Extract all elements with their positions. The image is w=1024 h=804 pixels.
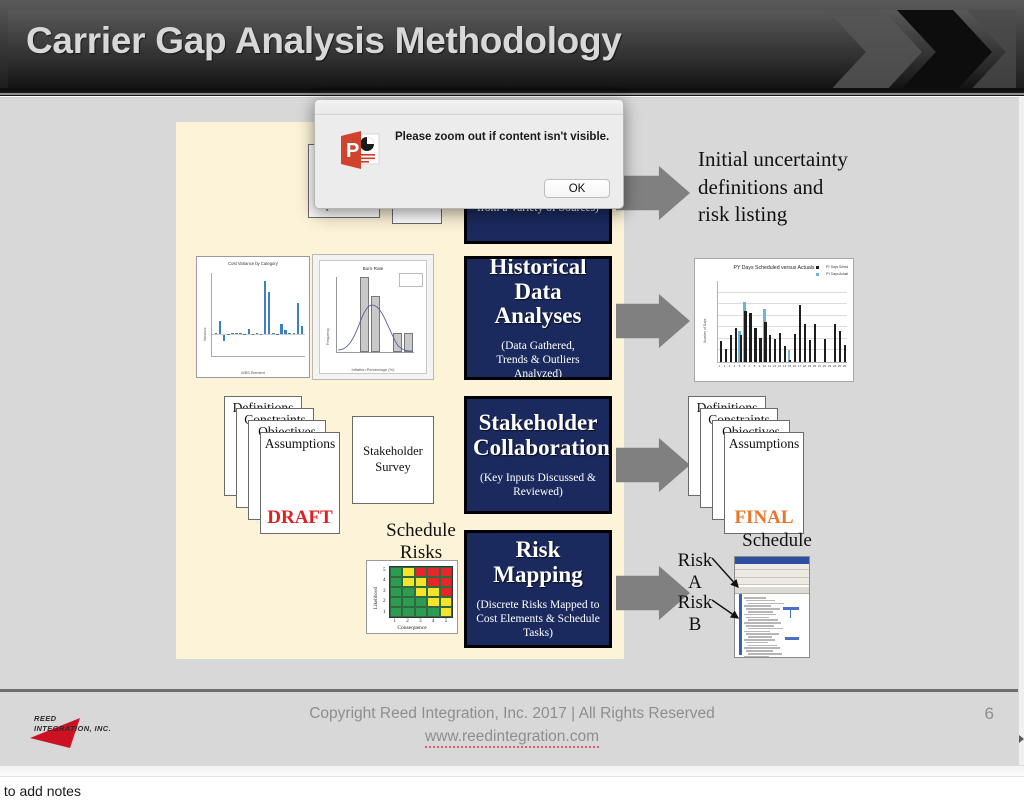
- document-stack-final: Definitions Constraints Objectives Assum…: [688, 396, 798, 524]
- scroll-right-arrow-icon[interactable]: [1019, 735, 1024, 743]
- sched-row: [744, 647, 780, 649]
- slide-footer: REED INTEGRATION, INC. Copyright Reed In…: [0, 689, 1024, 765]
- stage-2-title-line2: Data Analyses: [473, 280, 603, 330]
- output-arrow-2: [616, 294, 690, 348]
- sched-row: [748, 603, 784, 605]
- stage-2-title-line1: Historical: [473, 256, 603, 280]
- thumb1-bar: [235, 333, 237, 334]
- risk-matrix-xtick: 2: [406, 619, 409, 624]
- stage-3-sub-line2: Reviewed): [473, 485, 603, 499]
- risk-matrix-ytick: 2: [383, 599, 386, 604]
- stage-4-sub-line1: (Discrete Risks Mapped to: [473, 598, 603, 612]
- sched-column-header: [735, 587, 809, 594]
- py-bar-sched: [799, 305, 801, 362]
- thumb1-bar: [293, 333, 295, 334]
- sched-row: [746, 642, 768, 644]
- risk-matrix-xtick: 3: [419, 619, 422, 624]
- stage-4-title-line1: Risk Mapping: [473, 538, 603, 588]
- risk-matrix-cell: [415, 587, 427, 597]
- risk-matrix-cell: [415, 597, 427, 607]
- sched-row: [748, 645, 777, 647]
- sched-row: [746, 600, 775, 602]
- risk-matrix-cell: [415, 577, 427, 587]
- py-bar-sched: [749, 313, 751, 362]
- output-1-line3: risk listing: [698, 201, 888, 229]
- py-bar-sched: [764, 322, 766, 363]
- doc-label-final-assumptions: Assumptions: [725, 436, 803, 452]
- py-bar-sched: [789, 360, 791, 362]
- py-bar-sched: [779, 333, 781, 362]
- risk-matrix-cell: [402, 597, 414, 607]
- thumb1-title: Cost Variance by Category: [197, 261, 309, 266]
- thumb1-bar: [297, 303, 299, 334]
- thumb1-bar: [264, 281, 266, 334]
- risk-b-line2: B: [672, 614, 718, 636]
- sched-titlebar: [735, 557, 809, 564]
- thumb1-bar: [268, 292, 270, 334]
- sched-row: [746, 617, 769, 619]
- thumb1-bar: [219, 321, 221, 334]
- risk-matrix-xtick: 4: [432, 619, 435, 624]
- risk-matrix-heatmap: Likelihood Consequence 12345 54321: [366, 560, 458, 634]
- dialog-message: Please zoom out if content isn't visible…: [395, 130, 611, 145]
- py-bar-sched: [725, 349, 727, 362]
- risk-matrix-cell: [402, 607, 414, 617]
- risk-matrix-cell: [402, 567, 414, 577]
- stage-4-sub-line2: Cost Elements & Schedule: [473, 612, 603, 626]
- schedule-output-label: Schedule: [722, 530, 832, 552]
- doc-label-assumptions: Assumptions: [261, 436, 339, 452]
- risk-matrix-cell: [390, 577, 402, 587]
- sched-row: [748, 653, 782, 655]
- sched-row: [744, 605, 771, 607]
- slide-number: 6: [985, 704, 994, 724]
- py-bar-sched: [774, 339, 776, 362]
- chevron-decor-1: [814, 10, 922, 88]
- risk-matrix-ytick: 5: [383, 568, 386, 573]
- sched-row: [748, 611, 773, 613]
- risk-matrix-xtick: 5: [445, 619, 448, 624]
- risk-matrix-cell: [440, 577, 452, 587]
- py-bar-sched: [720, 341, 722, 362]
- footer-url-link[interactable]: www.reedintegration.com: [0, 728, 1024, 746]
- sched-row: [744, 656, 769, 658]
- risk-matrix-cell: [440, 597, 452, 607]
- dialog-ok-button[interactable]: OK: [544, 179, 610, 198]
- py-bar-sched: [834, 324, 836, 362]
- thumb2-xlabel: Inflation Percentage (%): [320, 367, 426, 372]
- sched-row: [744, 622, 781, 624]
- py-bar-sched: [769, 335, 771, 362]
- powerpoint-icon: P: [337, 127, 383, 173]
- py-bar-sched: [754, 328, 756, 362]
- stage-2-sub-line1: (Data Gathered,: [473, 339, 603, 353]
- zoom-notice-dialog: P Please zoom out if content isn't visib…: [314, 99, 624, 209]
- thumb1-bar: [248, 329, 250, 334]
- risk-matrix-cell: [427, 577, 439, 587]
- banner-inner: Carrier Gap Analysis Methodology: [8, 10, 1016, 88]
- stage-3-title-line1: Stakeholder: [473, 411, 603, 436]
- dialog-titlebar[interactable]: [315, 100, 623, 115]
- risk-matrix-ytick: 3: [383, 589, 386, 594]
- thumb1-bar: [280, 324, 282, 334]
- output-chart-py-days: PY Days Scheduled versus Actuals PY Days…: [694, 258, 854, 382]
- footer-url-text: www.reedintegration.com: [425, 728, 599, 748]
- risk-matrix-cell: [390, 607, 402, 617]
- banner-underline: [0, 88, 1024, 91]
- doc-page-final-assumptions: Assumptions FINAL: [724, 432, 804, 534]
- document-stack-draft: Definitions Constraints Objectives Assum…: [224, 396, 334, 524]
- thumb1-bar: [239, 333, 241, 334]
- sched-row: [746, 608, 780, 610]
- sched-row: [744, 639, 775, 641]
- risk-matrix-cell: [427, 607, 439, 617]
- risk-matrix-cell: [440, 587, 452, 597]
- gantt-link-1: [790, 610, 791, 618]
- risk-matrix-cell: [390, 567, 402, 577]
- py-xtick: 26: [842, 364, 847, 368]
- thumb1-xlabel: WBS Element: [197, 371, 309, 375]
- stage-box-risk-mapping[interactable]: Risk Mapping (Discrete Risks Mapped to C…: [464, 530, 612, 648]
- output-arrow-1: [616, 166, 690, 220]
- banner-underline-light: [0, 93, 1024, 95]
- py-bar-sched: [839, 331, 841, 362]
- stakeholder-survey-line2: Survey: [375, 460, 410, 476]
- risk-matrix-cell: [440, 607, 452, 617]
- schedule-screenshot-thumbnail: [734, 556, 810, 658]
- sched-row: [748, 628, 783, 630]
- py-legend-swatch-1: [816, 266, 819, 269]
- py-bar-sched: [784, 346, 786, 362]
- risk-matrix-xtick: 1: [394, 619, 397, 624]
- thumbnail-chart-cost-variance: Cost Variance by Category Variance WBS E…: [196, 256, 310, 378]
- py-bar-sched: [844, 345, 846, 362]
- stage-3-sub-line1: (Key Inputs Discussed &: [473, 471, 603, 485]
- schedule-risks-line1: Schedule: [366, 520, 476, 542]
- sched-toolbar: [735, 570, 809, 578]
- py-ylabel: Number of Days: [703, 319, 707, 344]
- risk-matrix-cell: [402, 587, 414, 597]
- risk-a-callout: Risk A: [672, 550, 718, 594]
- py-bar-sched: [730, 335, 732, 362]
- normal-curve-overlay: [337, 277, 414, 352]
- risk-matrix-cell: [415, 607, 427, 617]
- sched-row: [746, 633, 779, 635]
- thumb1-bar: [231, 333, 233, 334]
- slide-title-banner: Carrier Gap Analysis Methodology: [0, 0, 1024, 96]
- risk-matrix-ytick: 1: [383, 610, 386, 615]
- page-title: Carrier Gap Analysis Methodology: [26, 20, 622, 62]
- sched-outline-bar: [739, 594, 742, 655]
- output-1-line1: Initial uncertainty: [698, 146, 888, 174]
- svg-text:P: P: [346, 140, 359, 162]
- gantt-bar-1: [783, 607, 799, 610]
- risk-matrix-ytick: 4: [383, 578, 386, 583]
- thumb1-bar: [256, 333, 258, 334]
- stage-3-title-line2: Collaboration: [473, 436, 603, 461]
- py-bar-sched: [740, 335, 742, 362]
- stakeholder-survey-box: Stakeholder Survey: [352, 416, 434, 504]
- risk-matrix-cell: [440, 567, 452, 577]
- output-1-line2: definitions and: [698, 174, 888, 202]
- stakeholder-survey-line1: Stakeholder: [363, 444, 423, 460]
- risk-a-line2: A: [672, 572, 718, 594]
- py-legend-swatch-2: [816, 273, 819, 276]
- py-bar-sched: [809, 340, 811, 362]
- notes-pane[interactable]: ck to add notes: [0, 777, 1024, 804]
- thumb1-bar: [215, 333, 217, 334]
- powerpoint-slide-view: Carrier Gap Analysis Methodology Operati…: [0, 0, 1024, 804]
- thumbnail-chart-burn-rate: Burn Rate Frequency Inflation Percentage…: [312, 254, 434, 380]
- risk-b-line1: Risk: [672, 592, 718, 614]
- risk-matrix-cell: [427, 567, 439, 577]
- stage-box-historical-data-analyses[interactable]: Historical Data Analyses (Data Gathered,…: [464, 256, 612, 380]
- stage-box-stakeholder-collaboration[interactable]: Stakeholder Collaboration (Key Inputs Di…: [464, 396, 612, 514]
- output-arrow-3: [616, 438, 690, 492]
- risk-a-line1: Risk: [672, 550, 718, 572]
- py-bar-sched: [735, 328, 737, 362]
- py-legend-label-2: PY Days Actual: [826, 272, 848, 276]
- thumb1-ylabel: Variance: [203, 327, 207, 341]
- py-bar-sched: [814, 324, 816, 362]
- sched-row: [746, 650, 773, 652]
- notes-pane-divider[interactable]: [0, 765, 1024, 777]
- thumb1-bar-negative: [223, 335, 225, 341]
- sched-row: [744, 597, 766, 599]
- thumb1-bar: [284, 330, 286, 334]
- risk-matrix-xlabel: Consequence: [367, 625, 457, 631]
- risk-matrix-cell: [390, 587, 402, 597]
- output-caption-1: Initial uncertainty definitions and risk…: [698, 146, 888, 229]
- risk-matrix-cell: [427, 597, 439, 607]
- sched-row: [746, 625, 774, 627]
- py-bar-sched: [804, 324, 806, 362]
- risk-matrix-cell: [390, 597, 402, 607]
- thumb2-title: Burn Rate: [320, 266, 426, 271]
- risk-b-callout: Risk B: [672, 592, 718, 636]
- risk-matrix-cell: [427, 587, 439, 597]
- schedule-risks-label: Schedule Risks: [366, 520, 476, 564]
- thumb1-bar: [288, 333, 290, 334]
- stage-4-sub-line3: Tasks): [473, 626, 603, 640]
- thumb1-bar: [301, 326, 303, 334]
- risk-matrix-cell: [415, 567, 427, 577]
- vertical-scrollbar[interactable]: [1018, 97, 1024, 765]
- doc-stamp-draft: DRAFT: [261, 507, 339, 529]
- py-bar-sched: [744, 311, 746, 362]
- py-bar-sched: [794, 334, 796, 362]
- thumb1-bar: [272, 333, 274, 334]
- footer-copyright: Copyright Reed Integration, Inc. 2017 | …: [0, 705, 1024, 723]
- sched-row: [748, 636, 772, 638]
- doc-stamp-final: FINAL: [725, 507, 803, 529]
- py-legend-label-1: PY Days Sched: [826, 265, 848, 269]
- sched-row: [748, 619, 778, 621]
- py-bar-sched: [759, 338, 761, 362]
- py-bar-sched: [824, 339, 826, 362]
- gantt-bar-2: [785, 637, 799, 640]
- sched-row: [744, 631, 770, 633]
- sched-row: [744, 614, 776, 616]
- doc-page-assumptions: Assumptions DRAFT: [260, 432, 340, 534]
- risk-matrix-cell: [402, 577, 414, 587]
- sched-toolbar-2: [735, 578, 809, 585]
- notes-placeholder: ck to add notes: [0, 783, 81, 799]
- risk-matrix-ylabel: Likelihood: [374, 587, 379, 609]
- stage-2-sub-line2: Trends & Outliers Analyzed): [473, 353, 603, 380]
- thumb2-ylabel: Frequency: [326, 328, 330, 345]
